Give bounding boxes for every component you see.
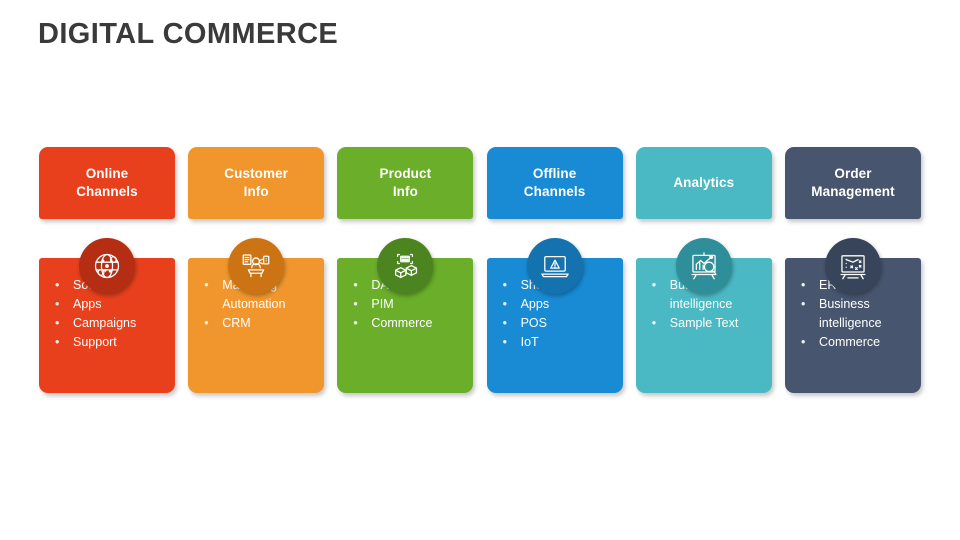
page-title: DIGITAL COMMERCE bbox=[38, 18, 338, 51]
list-item: PIM bbox=[345, 295, 465, 314]
card-header-online-channels[interactable]: OnlineChannels bbox=[39, 147, 175, 219]
globe-network-icon bbox=[79, 238, 135, 294]
list-item: Sample Text bbox=[644, 314, 764, 333]
laptop-alert-icon bbox=[527, 238, 583, 294]
list-item: Business intelligence bbox=[793, 295, 913, 333]
product-boxes-icon bbox=[377, 238, 433, 294]
list-item: Support bbox=[47, 333, 167, 352]
column-offline-channels[interactable]: OfflineChannelsShopsAppsPOSIoT bbox=[487, 147, 623, 393]
list-item: Apps bbox=[495, 295, 615, 314]
card-title-offline-channels: OfflineChannels bbox=[524, 165, 586, 201]
column-order-management[interactable]: OrderManagementERPBusiness intelligenceC… bbox=[785, 147, 921, 393]
card-title-customer-info: CustomerInfo bbox=[224, 165, 288, 201]
column-product-info[interactable]: ProductInfoDAMPIMCommerce bbox=[337, 147, 473, 393]
card-title-product-info: ProductInfo bbox=[380, 165, 432, 201]
card-header-order-management[interactable]: OrderManagement bbox=[785, 147, 921, 219]
card-header-offline-channels[interactable]: OfflineChannels bbox=[487, 147, 623, 219]
list-item: Apps bbox=[47, 295, 167, 314]
card-title-analytics: Analytics bbox=[673, 174, 734, 192]
card-header-analytics[interactable]: Analytics bbox=[636, 147, 772, 219]
list-item: POS bbox=[495, 314, 615, 333]
list-item: Commerce bbox=[793, 333, 913, 352]
customer-presentation-icon bbox=[228, 238, 284, 294]
card-header-product-info[interactable]: ProductInfo bbox=[337, 147, 473, 219]
strategy-board-icon bbox=[825, 238, 881, 294]
column-online-channels[interactable]: OnlineChannelsSocialAppsCampaignsSupport bbox=[39, 147, 175, 393]
list-item: CRM bbox=[196, 314, 316, 333]
slide-canvas: DIGITAL COMMERCE OnlineChannelsSocialApp… bbox=[0, 0, 960, 540]
column-group: OnlineChannelsSocialAppsCampaignsSupport… bbox=[39, 147, 921, 393]
card-header-customer-info[interactable]: CustomerInfo bbox=[188, 147, 324, 219]
analytics-chart-search-icon bbox=[676, 238, 732, 294]
list-item: Campaigns bbox=[47, 314, 167, 333]
column-analytics[interactable]: AnalyticsBusiness intelligenceSample Tex… bbox=[636, 147, 772, 393]
list-item: IoT bbox=[495, 333, 615, 352]
column-customer-info[interactable]: CustomerInfoMarketing AutomationCRM bbox=[188, 147, 324, 393]
list-item: Commerce bbox=[345, 314, 465, 333]
card-title-order-management: OrderManagement bbox=[811, 165, 895, 201]
card-title-online-channels: OnlineChannels bbox=[76, 165, 138, 201]
